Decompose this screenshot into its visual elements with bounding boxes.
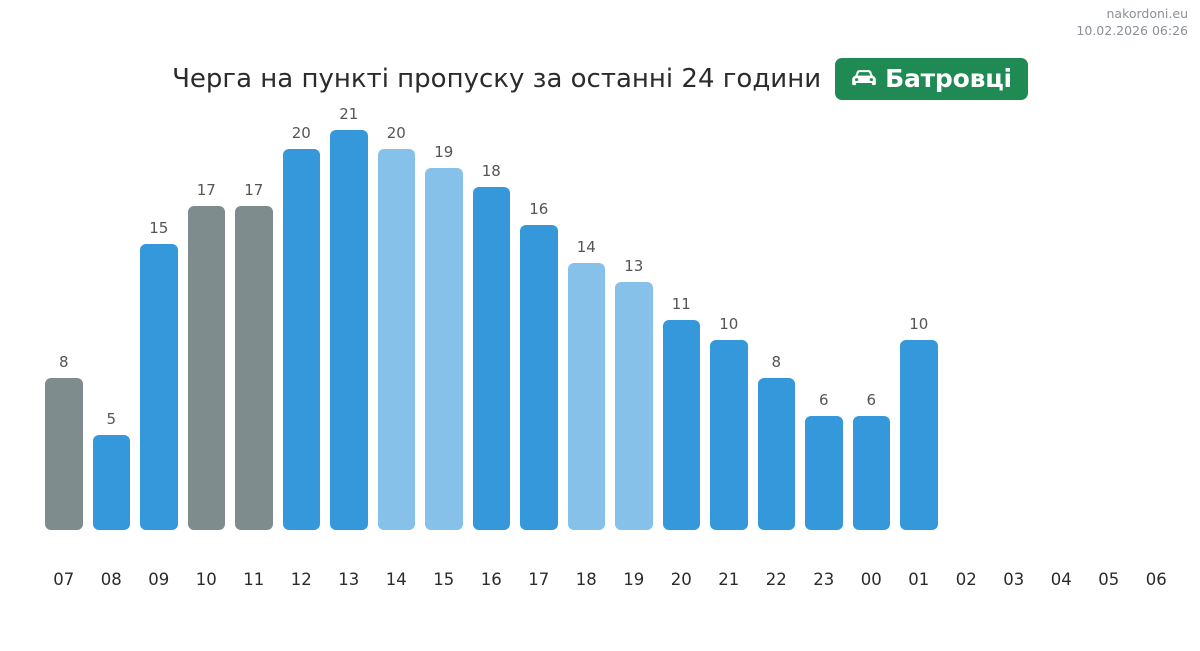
x-axis-tick: 04: [1038, 570, 1086, 590]
bar-column: 10: [895, 130, 943, 530]
x-axis-tick: 01: [895, 570, 943, 590]
bar[interactable]: [663, 320, 701, 530]
chart-header: Черга на пункті пропуску за останні 24 г…: [0, 58, 1200, 100]
x-axis-tick: 19: [610, 570, 658, 590]
bar[interactable]: [710, 340, 748, 530]
bar-value-label: 18: [468, 164, 516, 179]
bar-value-label: 8: [40, 355, 88, 370]
bar-column: 6: [800, 130, 848, 530]
bar-value-label: 20: [278, 126, 326, 141]
bar[interactable]: [805, 416, 843, 530]
bar[interactable]: [45, 378, 83, 530]
bar-column: [943, 130, 991, 530]
checkpoint-name: Батровці: [885, 66, 1012, 91]
x-axis-tick: 02: [943, 570, 991, 590]
x-axis-tick: 07: [40, 570, 88, 590]
bar[interactable]: [758, 378, 796, 530]
x-axis-tick: 20: [658, 570, 706, 590]
checkpoint-badge[interactable]: Батровці: [835, 58, 1028, 100]
bar[interactable]: [900, 340, 938, 530]
x-axis-tick: 08: [88, 570, 136, 590]
bar-column: 6: [848, 130, 896, 530]
bar-column: 19: [420, 130, 468, 530]
watermark: nakordoni.eu 10.02.2026 06:26: [1076, 6, 1188, 40]
bar-column: [1085, 130, 1133, 530]
bar-column: 11: [658, 130, 706, 530]
bar-column: 18: [468, 130, 516, 530]
bar[interactable]: [568, 263, 606, 530]
x-axis-tick: 16: [468, 570, 516, 590]
bar[interactable]: [330, 130, 368, 530]
bar-value-label: 13: [610, 259, 658, 274]
bar-value-label: 20: [373, 126, 421, 141]
x-axis-tick: 15: [420, 570, 468, 590]
bar-column: 20: [278, 130, 326, 530]
x-axis-tick: 12: [278, 570, 326, 590]
bar-column: 16: [515, 130, 563, 530]
x-axis-tick: 18: [563, 570, 611, 590]
bar-chart-plot-area: 851517172021201918161413111086610: [40, 130, 1180, 530]
x-axis-tick: 17: [515, 570, 563, 590]
bar-value-label: 17: [230, 183, 278, 198]
page-title: Черга на пункті пропуску за останні 24 г…: [172, 64, 821, 94]
x-axis-tick: 06: [1133, 570, 1181, 590]
bar-column: 8: [40, 130, 88, 530]
x-axis-tick: 05: [1085, 570, 1133, 590]
bar-column: 17: [183, 130, 231, 530]
bar-column: [1038, 130, 1086, 530]
watermark-site: nakordoni.eu: [1076, 6, 1188, 23]
bar-value-label: 19: [420, 145, 468, 160]
bar-value-label: 21: [325, 107, 373, 122]
x-axis-tick: 10: [183, 570, 231, 590]
bar-value-label: 17: [183, 183, 231, 198]
bar[interactable]: [140, 244, 178, 530]
bar[interactable]: [425, 168, 463, 530]
bar[interactable]: [853, 416, 891, 530]
bar-column: 21: [325, 130, 373, 530]
bar-value-label: 10: [705, 317, 753, 332]
bar-column: [990, 130, 1038, 530]
car-icon: [849, 68, 879, 90]
bar-value-label: 6: [800, 393, 848, 408]
x-axis: 0708091011121314151617181920212223000102…: [40, 570, 1180, 598]
bar-value-label: 14: [563, 240, 611, 255]
bar-column: [1133, 130, 1181, 530]
bar-column: 14: [563, 130, 611, 530]
bar[interactable]: [188, 206, 226, 530]
bar-value-label: 6: [848, 393, 896, 408]
x-axis-tick: 11: [230, 570, 278, 590]
bar-column: 13: [610, 130, 658, 530]
bar-column: 17: [230, 130, 278, 530]
bar-column: 20: [373, 130, 421, 530]
x-axis-tick: 23: [800, 570, 848, 590]
bar-column: 8: [753, 130, 801, 530]
bar-column: 5: [88, 130, 136, 530]
bar[interactable]: [235, 206, 273, 530]
bar[interactable]: [615, 282, 653, 530]
bar-column: 10: [705, 130, 753, 530]
bar-column: 15: [135, 130, 183, 530]
bar[interactable]: [520, 225, 558, 530]
x-axis-tick: 03: [990, 570, 1038, 590]
x-axis-tick: 21: [705, 570, 753, 590]
bar-value-label: 15: [135, 221, 183, 236]
bar-value-label: 5: [88, 412, 136, 427]
x-axis-tick: 13: [325, 570, 373, 590]
bar-value-label: 11: [658, 297, 706, 312]
bar[interactable]: [283, 149, 321, 530]
bar-value-label: 16: [515, 202, 563, 217]
bar[interactable]: [473, 187, 511, 530]
x-axis-tick: 14: [373, 570, 421, 590]
x-axis-tick: 22: [753, 570, 801, 590]
bar-value-label: 10: [895, 317, 943, 332]
bar[interactable]: [93, 435, 131, 530]
x-axis-tick: 00: [848, 570, 896, 590]
bar[interactable]: [378, 149, 416, 530]
watermark-timestamp: 10.02.2026 06:26: [1076, 23, 1188, 40]
x-axis-tick: 09: [135, 570, 183, 590]
bar-value-label: 8: [753, 355, 801, 370]
